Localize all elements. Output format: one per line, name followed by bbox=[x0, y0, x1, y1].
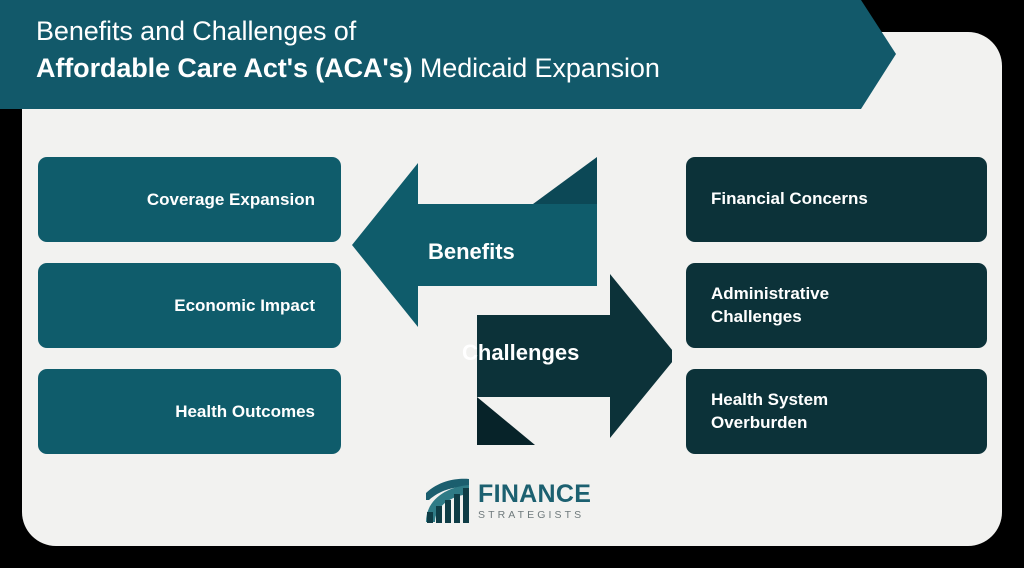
challenges-column: Financial Concerns AdministrativeChallen… bbox=[686, 157, 987, 475]
benefits-arrow-fold bbox=[533, 157, 597, 204]
challenge-label: AdministrativeChallenges bbox=[711, 283, 829, 327]
challenge-label: Health SystemOverburden bbox=[711, 389, 828, 433]
page-title: Benefits and Challenges of Affordable Ca… bbox=[36, 14, 660, 86]
list-item[interactable]: Coverage Expansion bbox=[38, 157, 341, 242]
list-item[interactable]: Economic Impact bbox=[38, 263, 341, 348]
list-item[interactable]: Health SystemOverburden bbox=[686, 369, 987, 454]
logo-wordmark: FINANCE STRATEGISTS bbox=[478, 482, 591, 521]
benefit-label: Coverage Expansion bbox=[147, 189, 315, 211]
list-item[interactable]: Health Outcomes bbox=[38, 369, 341, 454]
title-line-1: Benefits and Challenges of bbox=[36, 14, 660, 49]
title-line-2: Affordable Care Act's (ACA's) Medicaid E… bbox=[36, 51, 660, 86]
arrows-svg bbox=[352, 157, 672, 487]
logo-primary-text: FINANCE bbox=[478, 482, 591, 507]
benefits-arrow-label: Benefits bbox=[428, 239, 515, 265]
challenges-arrow-label: Challenges bbox=[462, 340, 579, 366]
benefit-label: Health Outcomes bbox=[175, 401, 315, 423]
list-item[interactable]: AdministrativeChallenges bbox=[686, 263, 987, 348]
header-banner: Benefits and Challenges of Affordable Ca… bbox=[0, 0, 896, 109]
bridge-chart-icon bbox=[424, 478, 472, 524]
challenge-label: Financial Concerns bbox=[711, 188, 868, 210]
logo-secondary-text: STRATEGISTS bbox=[478, 510, 591, 521]
infographic-root: Coverage Expansion Economic Impact Healt… bbox=[0, 0, 1024, 568]
title-emphasis: Affordable Care Act's (ACA's) bbox=[36, 53, 413, 83]
content-layer: Coverage Expansion Economic Impact Healt… bbox=[22, 32, 1002, 546]
brand-logo[interactable]: FINANCE STRATEGISTS bbox=[424, 475, 600, 527]
list-item[interactable]: Financial Concerns bbox=[686, 157, 987, 242]
arrows-group: Benefits Challenges bbox=[352, 157, 672, 487]
benefit-label: Economic Impact bbox=[174, 295, 315, 317]
challenges-arrow-fold bbox=[477, 397, 535, 445]
title-remainder: Medicaid Expansion bbox=[413, 53, 660, 83]
benefits-column: Coverage Expansion Economic Impact Healt… bbox=[38, 157, 341, 475]
